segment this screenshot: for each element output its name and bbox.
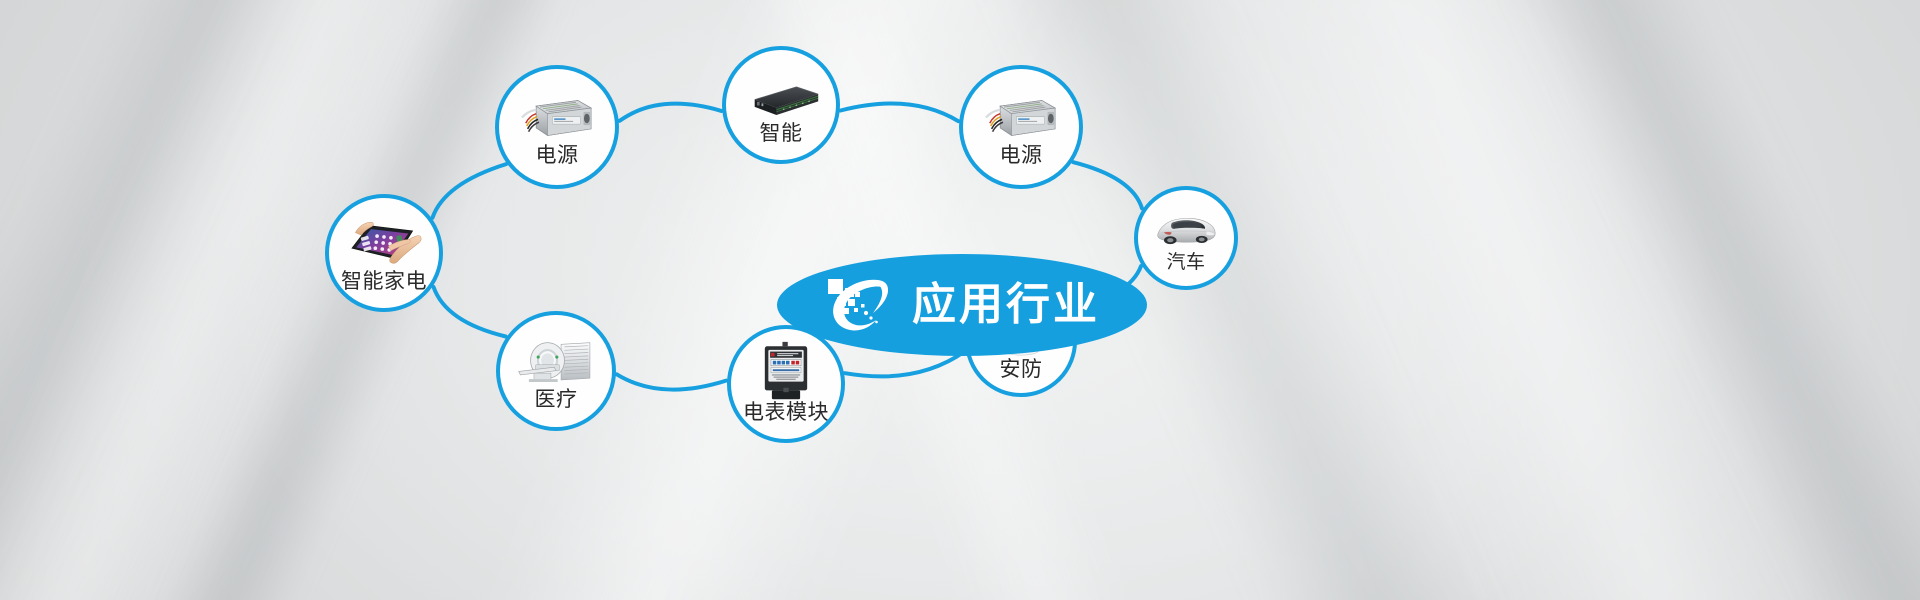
center-badge-label: 应用行业 <box>912 283 1100 327</box>
sports-car-icon <box>1153 204 1219 252</box>
node-label: 智能 <box>760 123 803 145</box>
node-label: 汽车 <box>1166 253 1205 273</box>
node-label: 医疗 <box>535 389 578 411</box>
node-label: 电表模块 <box>743 402 829 424</box>
node-medical[interactable]: 医疗 <box>496 311 616 431</box>
node-power-right[interactable]: 电源 <box>959 65 1083 189</box>
electric-meter-icon <box>747 343 825 401</box>
connector-meter-module-to-medical <box>617 374 726 389</box>
orbit-swoosh-pixel-logo <box>824 275 898 335</box>
connector-smart-home-to-power-left <box>433 164 507 218</box>
node-smart-home[interactable]: 智能家电 <box>325 194 443 312</box>
pc-power-supply-icon <box>982 86 1060 144</box>
node-label: 智能家电 <box>341 271 427 293</box>
node-smart[interactable]: 智能 <box>722 46 840 164</box>
node-automotive[interactable]: 汽车 <box>1134 186 1238 290</box>
node-label: 电源 <box>536 145 579 167</box>
node-label: 安防 <box>1000 359 1043 381</box>
node-power-left[interactable]: 电源 <box>495 65 619 189</box>
connector-smart-to-power-right <box>841 104 959 122</box>
node-meter-module[interactable]: 电表模块 <box>727 325 845 443</box>
connector-medical-to-smart-home <box>434 287 506 337</box>
node-label: 电源 <box>1000 145 1043 167</box>
center-badge[interactable]: 应用行业 <box>777 254 1147 356</box>
touch-tablet-icon <box>345 212 423 270</box>
rack-server-icon <box>742 64 820 122</box>
application-industries-banner: 电源 智能 <box>0 0 1920 600</box>
pc-power-supply-icon <box>518 86 596 144</box>
ct-scanner-icon <box>517 330 595 388</box>
connector-power-right-to-automotive <box>1073 162 1142 208</box>
connector-power-left-to-smart <box>620 104 722 121</box>
